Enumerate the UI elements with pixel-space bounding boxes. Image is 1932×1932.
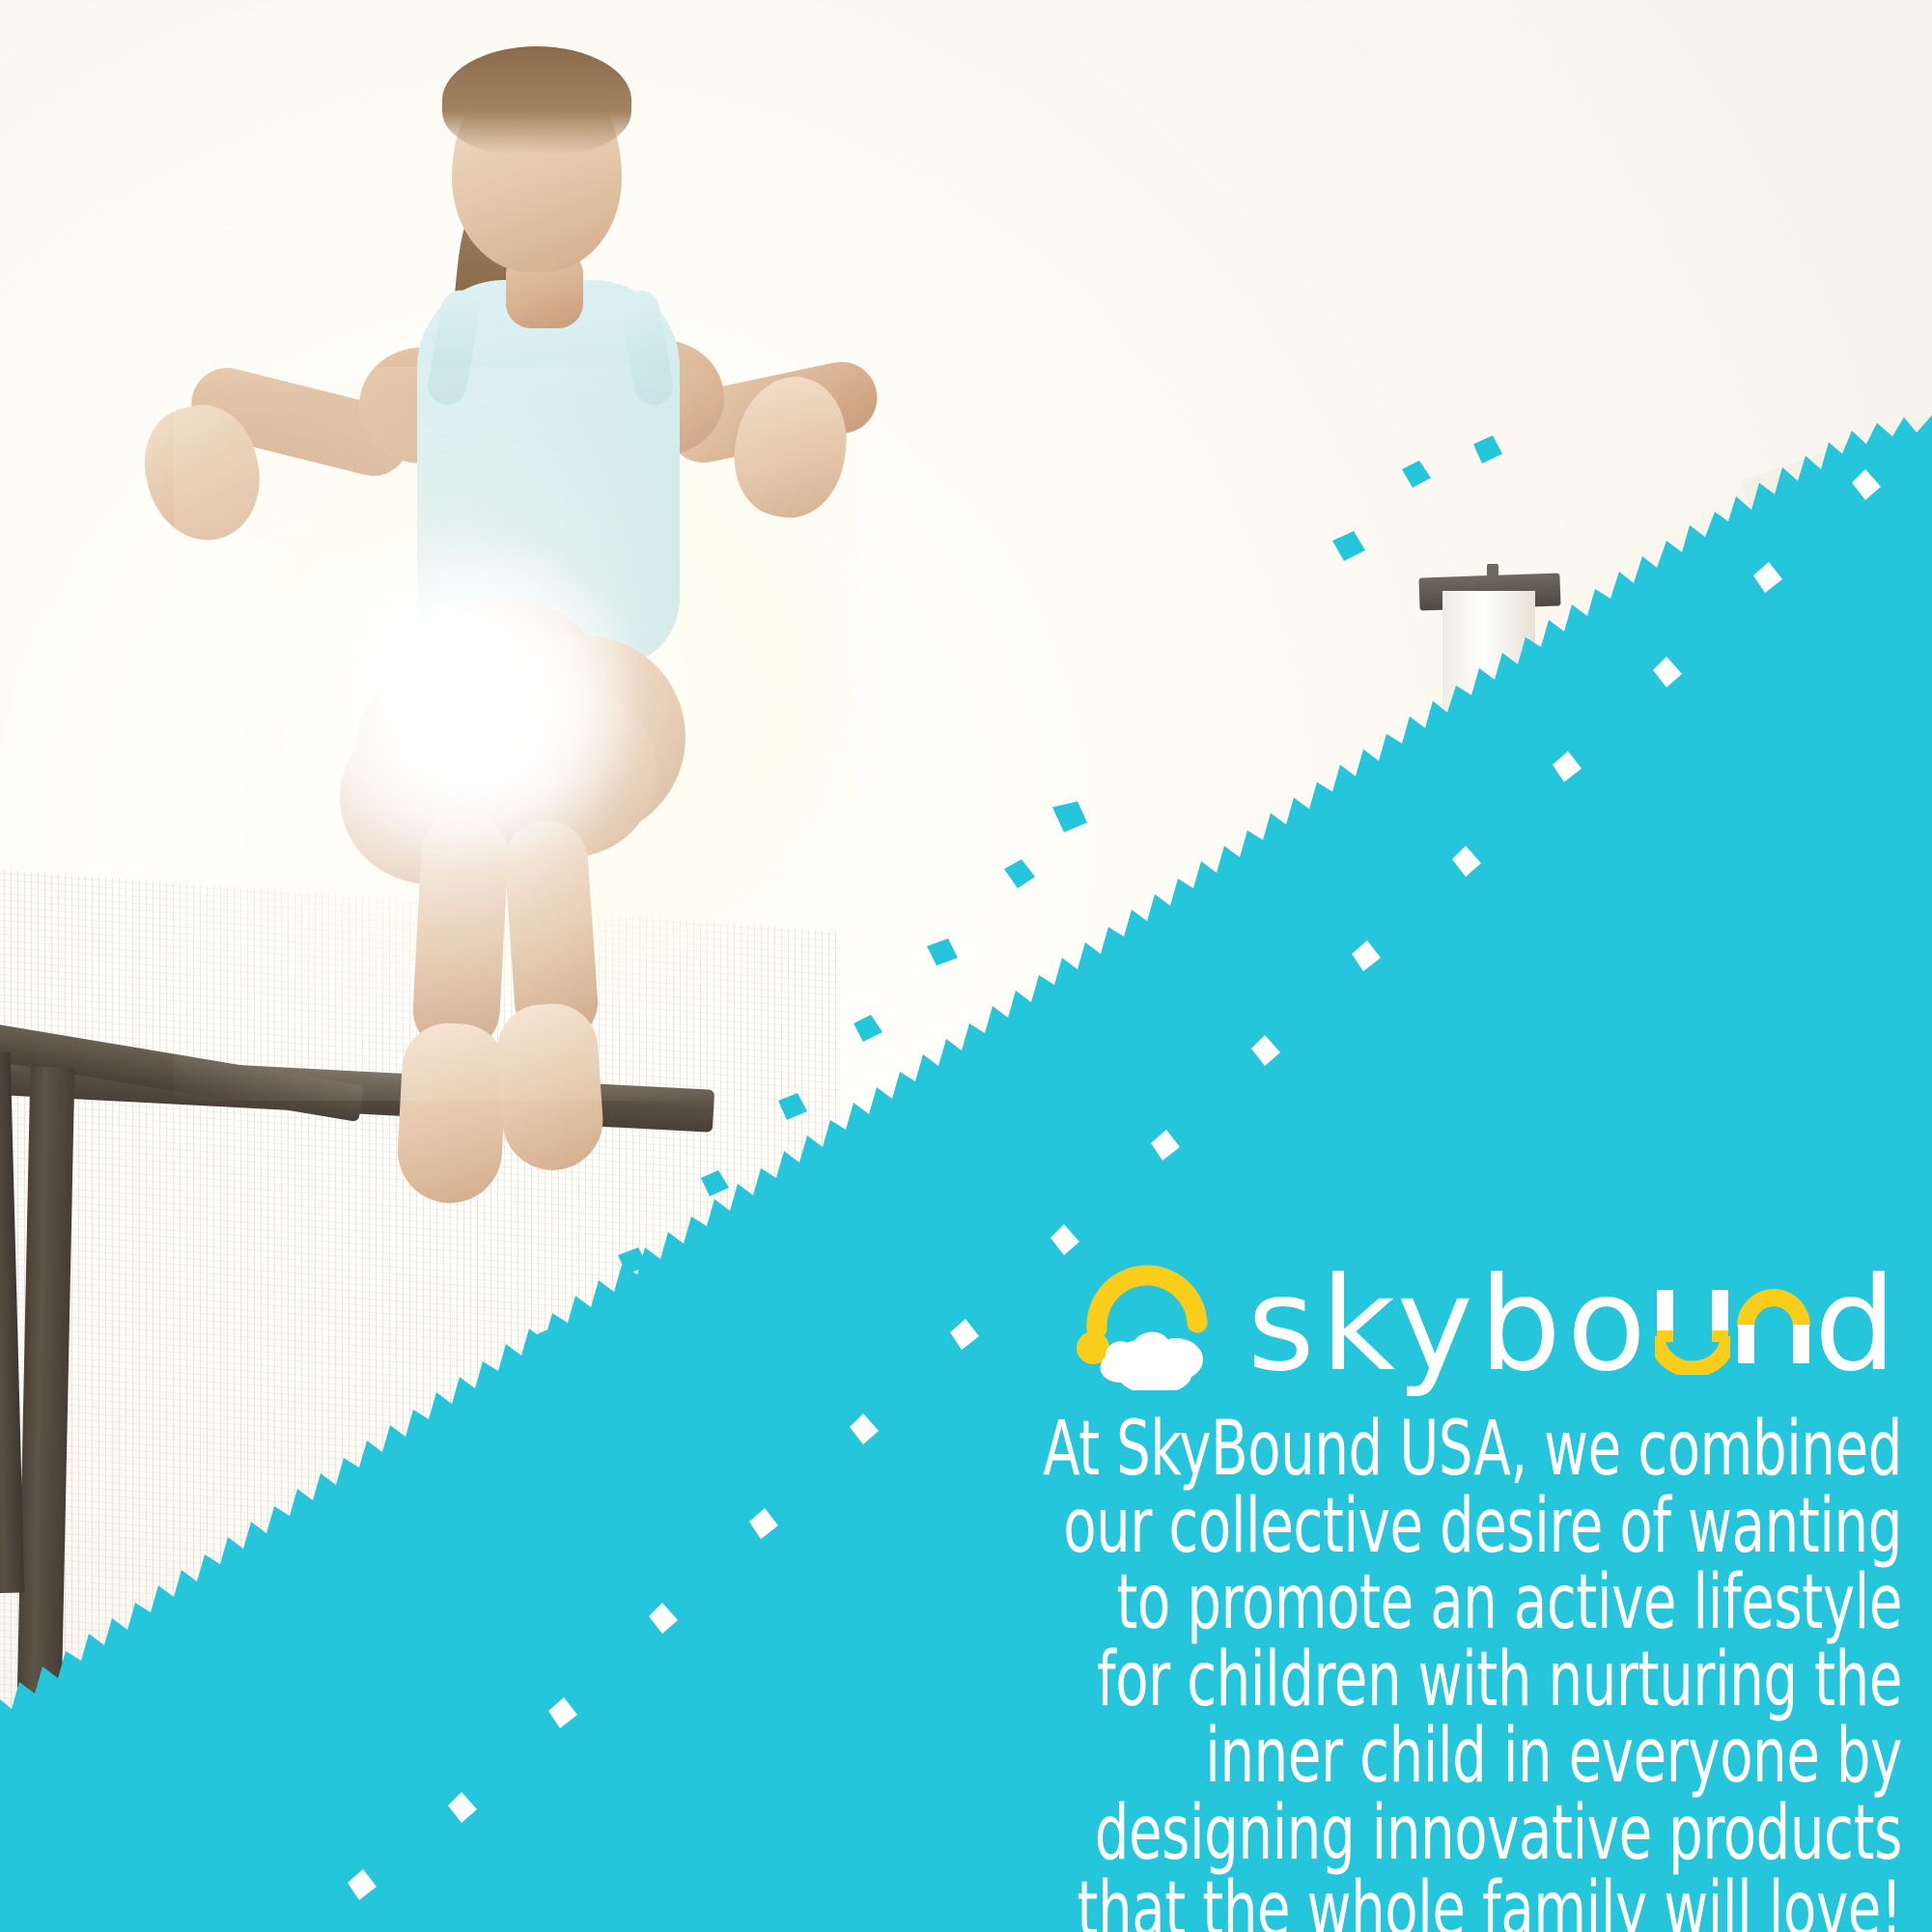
wordmark-letter-n: [1736, 1276, 1811, 1369]
wordmark-prefix: skybo: [1247, 1260, 1652, 1389]
skybound-wordmark: skybo d: [1247, 1260, 1902, 1389]
letter-u-glyph: [1655, 1282, 1730, 1375]
sun-and-cloud-icon: [1076, 1259, 1230, 1390]
girl-left-foot: [395, 1021, 509, 1205]
wordmark-letter-u: [1655, 1276, 1730, 1369]
tagline-line: inner child in everyone by: [850, 1719, 1902, 1796]
girl-right-foot: [494, 1001, 606, 1174]
girl-hair: [442, 46, 631, 154]
tagline-line: designing innovative products: [850, 1796, 1902, 1873]
wordmark-suffix: d: [1814, 1260, 1902, 1389]
brand-block: skybo d: [850, 1251, 1902, 1932]
tagline-line: At SkyBound USA, we combined: [850, 1412, 1902, 1489]
tagline-line: our collective desire of wanting: [850, 1489, 1902, 1566]
tagline-line: for children with nurturing the: [850, 1642, 1902, 1720]
skybound-promo-poster: skybo d: [0, 0, 1932, 1932]
letter-n-glyph: [1736, 1282, 1811, 1375]
skybound-logo[interactable]: skybo d: [850, 1251, 1902, 1398]
tagline-line: to promote an active lifestyle: [850, 1565, 1902, 1642]
sun-flare-core: [319, 541, 637, 859]
brand-tagline: At SkyBound USA, we combined our collect…: [850, 1412, 1902, 1932]
sun-and-cloud-glyph: [1076, 1259, 1230, 1390]
tagline-line: that the whole family will love!: [850, 1872, 1902, 1932]
